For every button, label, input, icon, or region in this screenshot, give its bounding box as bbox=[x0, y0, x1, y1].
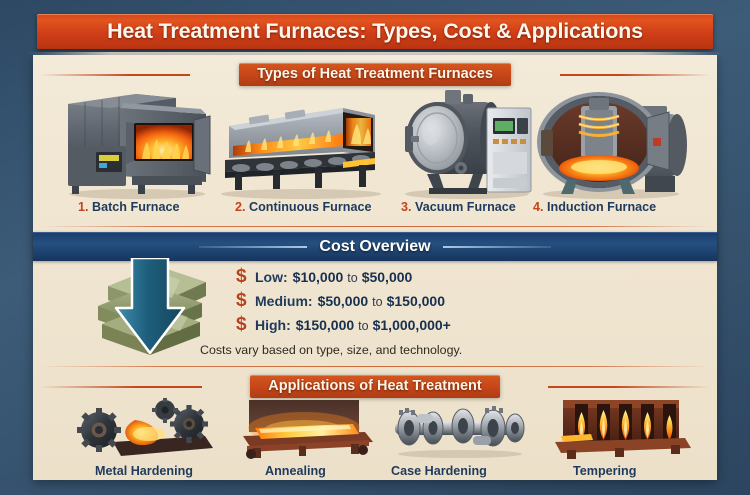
cost-to-low: $50,000 bbox=[362, 269, 413, 285]
cost-section-header: Cost Overview bbox=[33, 232, 717, 261]
gears-glowing-metal-icon bbox=[73, 398, 233, 460]
induction-furnace-illustration bbox=[533, 82, 693, 200]
cost-from-low: $10,000 bbox=[293, 269, 344, 285]
applications-illustration-row bbox=[33, 398, 717, 460]
application-label-2: Annealing bbox=[265, 464, 326, 478]
poster-title-banner: Heat Treatment Furnaces: Types, Cost & A… bbox=[37, 14, 713, 49]
furnace-name-1: Batch Furnace bbox=[92, 200, 179, 214]
furnace-label-1: 1. Batch Furnace bbox=[78, 200, 180, 214]
cost-heading-text: Cost Overview bbox=[319, 238, 430, 256]
apps-rule-right bbox=[548, 386, 710, 388]
furnace-number-1: 1. bbox=[78, 200, 89, 214]
cost-tier-medium: Medium: bbox=[255, 293, 313, 309]
crankshaft-icon bbox=[385, 398, 535, 460]
furnace-label-row: 1. Batch Furnace 2. Continuous Furnace 3… bbox=[33, 200, 717, 222]
application-label-1: Metal Hardening bbox=[95, 464, 193, 478]
cost-tier-high: High: bbox=[255, 317, 291, 333]
cost-rule-right bbox=[443, 246, 551, 248]
cost-row-low: $ Low: $10,000 to $50,000 bbox=[236, 266, 566, 290]
header-rule-left bbox=[40, 74, 190, 76]
metal-hardening-illustration bbox=[73, 398, 233, 460]
furnace-label-3: 3. Vacuum Furnace bbox=[401, 200, 516, 214]
dollar-icon-high: $ bbox=[236, 314, 255, 336]
furnace-number-4: 4. bbox=[533, 200, 544, 214]
batch-furnace-illustration bbox=[58, 82, 216, 200]
cost-row-high: $ High: $150,000 to $1,000,000+ bbox=[236, 314, 566, 338]
annealing-illustration bbox=[229, 398, 379, 460]
dollar-icon-medium: $ bbox=[236, 290, 255, 312]
types-heading-text: Types of Heat Treatment Furnaces bbox=[257, 66, 493, 82]
furnace-label-4: 4. Induction Furnace bbox=[533, 200, 656, 214]
furnace-number-3: 3. bbox=[401, 200, 412, 214]
furnace-name-3: Vacuum Furnace bbox=[415, 200, 516, 214]
flame-rack-icon bbox=[545, 398, 695, 460]
applications-heading-pill: Applications of Heat Treatment bbox=[250, 375, 500, 398]
cost-to-high: $1,000,000+ bbox=[373, 317, 451, 333]
applications-section-header: Applications of Heat Treatment bbox=[0, 374, 750, 398]
cost-illustration bbox=[88, 258, 213, 356]
tempering-illustration bbox=[545, 398, 695, 460]
dollar-icon-low: $ bbox=[236, 266, 255, 288]
furnace-name-2: Continuous Furnace bbox=[249, 200, 371, 214]
furnace-label-2: 2. Continuous Furnace bbox=[235, 200, 371, 214]
furnace-number-2: 2. bbox=[235, 200, 246, 214]
poster-title: Heat Treatment Furnaces: Types, Cost & A… bbox=[107, 19, 643, 44]
cost-to-medium: $150,000 bbox=[387, 293, 445, 309]
furnace-illustration-row bbox=[33, 82, 717, 200]
header-rule-right bbox=[560, 74, 710, 76]
cost-from-high: $150,000 bbox=[296, 317, 354, 333]
divider-types-cost bbox=[40, 226, 710, 227]
continuous-furnace-illustration bbox=[215, 82, 387, 200]
cost-connector-medium: to bbox=[372, 295, 382, 309]
cost-tier-list: $ Low: $10,000 to $50,000 $ Medium: $50,… bbox=[236, 266, 566, 338]
money-stack-down-arrow-icon bbox=[88, 258, 213, 356]
cost-row-medium: $ Medium: $50,000 to $150,000 bbox=[236, 290, 566, 314]
furnace-name-4: Induction Furnace bbox=[547, 200, 656, 214]
induction-furnace-icon bbox=[533, 82, 693, 200]
application-label-4: Tempering bbox=[573, 464, 636, 478]
apps-rule-left bbox=[40, 386, 202, 388]
cost-note: Costs vary based on type, size, and tech… bbox=[200, 343, 462, 357]
applications-label-row: Metal Hardening Annealing Case Hardening… bbox=[33, 464, 717, 484]
applications-heading-text: Applications of Heat Treatment bbox=[268, 378, 482, 394]
application-label-3: Case Hardening bbox=[391, 464, 487, 478]
vacuum-furnace-icon bbox=[401, 82, 541, 200]
infographic-poster: Heat Treatment Furnaces: Types, Cost & A… bbox=[0, 0, 750, 495]
cost-rule-left bbox=[199, 246, 307, 248]
cost-from-medium: $50,000 bbox=[318, 293, 369, 309]
glowing-slab-furnace-icon bbox=[229, 398, 379, 460]
divider-cost-apps bbox=[40, 366, 710, 367]
vacuum-furnace-illustration bbox=[401, 82, 541, 200]
cost-tier-low: Low: bbox=[255, 269, 288, 285]
cost-connector-high: to bbox=[358, 319, 368, 333]
case-hardening-illustration bbox=[385, 398, 535, 460]
cost-connector-low: to bbox=[347, 271, 357, 285]
batch-furnace-icon bbox=[58, 82, 216, 200]
continuous-furnace-icon bbox=[215, 82, 387, 200]
